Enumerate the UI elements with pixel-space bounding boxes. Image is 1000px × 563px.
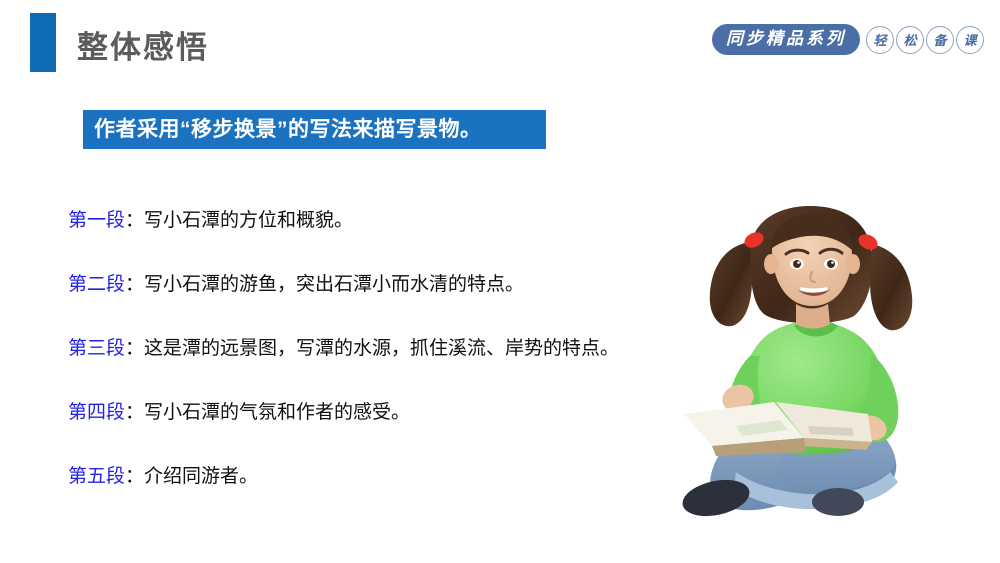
paragraph-label: 第三段 xyxy=(68,338,125,359)
list-item: 第二段：写小石潭的游鱼，突出石潭小而水清的特点。 xyxy=(68,272,688,298)
brand-pill-label: 同步精品系列 xyxy=(712,24,860,55)
paragraph-separator: ： xyxy=(125,402,144,423)
paragraph-label: 第四段 xyxy=(68,402,125,423)
paragraph-separator: ： xyxy=(125,274,144,295)
paragraph-separator: ： xyxy=(125,466,144,487)
brand-circle-group: 轻 松 备 课 xyxy=(866,26,984,54)
brand-circle-4: 课 xyxy=(956,26,984,54)
statement-banner-text: 作者采用“移步换景”的写法来描写景物。 xyxy=(94,117,482,143)
page-title: 整体感悟 xyxy=(77,26,209,70)
brand-circle-2: 松 xyxy=(896,26,924,54)
girl-reading-photo xyxy=(676,206,1000,563)
brand-circle-3: 备 xyxy=(926,26,954,54)
paragraph-body: 写小石潭的游鱼，突出石潭小而水清的特点。 xyxy=(144,274,524,295)
paragraph-label: 第五段 xyxy=(68,466,125,487)
paragraph-list: 第一段：写小石潭的方位和概貌。 第二段：写小石潭的游鱼，突出石潭小而水清的特点。… xyxy=(68,208,688,490)
paragraph-body: 介绍同游者。 xyxy=(144,466,258,487)
head-group xyxy=(710,206,913,330)
paragraph-body: 这是潭的远景图，写潭的水源，抓住溪流、岸势的特点。 xyxy=(144,338,619,359)
paragraph-label: 第二段 xyxy=(68,274,125,295)
statement-banner: 作者采用“移步换景”的写法来描写景物。 xyxy=(83,110,546,149)
list-item: 第三段：这是潭的远景图，写潭的水源，抓住溪流、岸势的特点。 xyxy=(68,336,688,362)
slide: 整体感悟 同步精品系列 轻 松 备 课 作者采用“移步换景”的写法来描写景物。 … xyxy=(0,0,1000,563)
title-accent-bar xyxy=(30,13,56,72)
paragraph-body: 写小石潭的气氛和作者的感受。 xyxy=(144,402,410,423)
list-item: 第一段：写小石潭的方位和概貌。 xyxy=(68,208,688,234)
paragraph-separator: ： xyxy=(125,338,144,359)
list-item: 第五段：介绍同游者。 xyxy=(68,464,688,490)
brand-logo: 同步精品系列 轻 松 备 课 xyxy=(712,24,984,55)
paragraph-body: 写小石潭的方位和概貌。 xyxy=(144,210,353,231)
brand-circle-1: 轻 xyxy=(866,26,894,54)
paragraph-label: 第一段 xyxy=(68,210,125,231)
paragraph-separator: ： xyxy=(125,210,144,231)
list-item: 第四段：写小石潭的气氛和作者的感受。 xyxy=(68,400,688,426)
